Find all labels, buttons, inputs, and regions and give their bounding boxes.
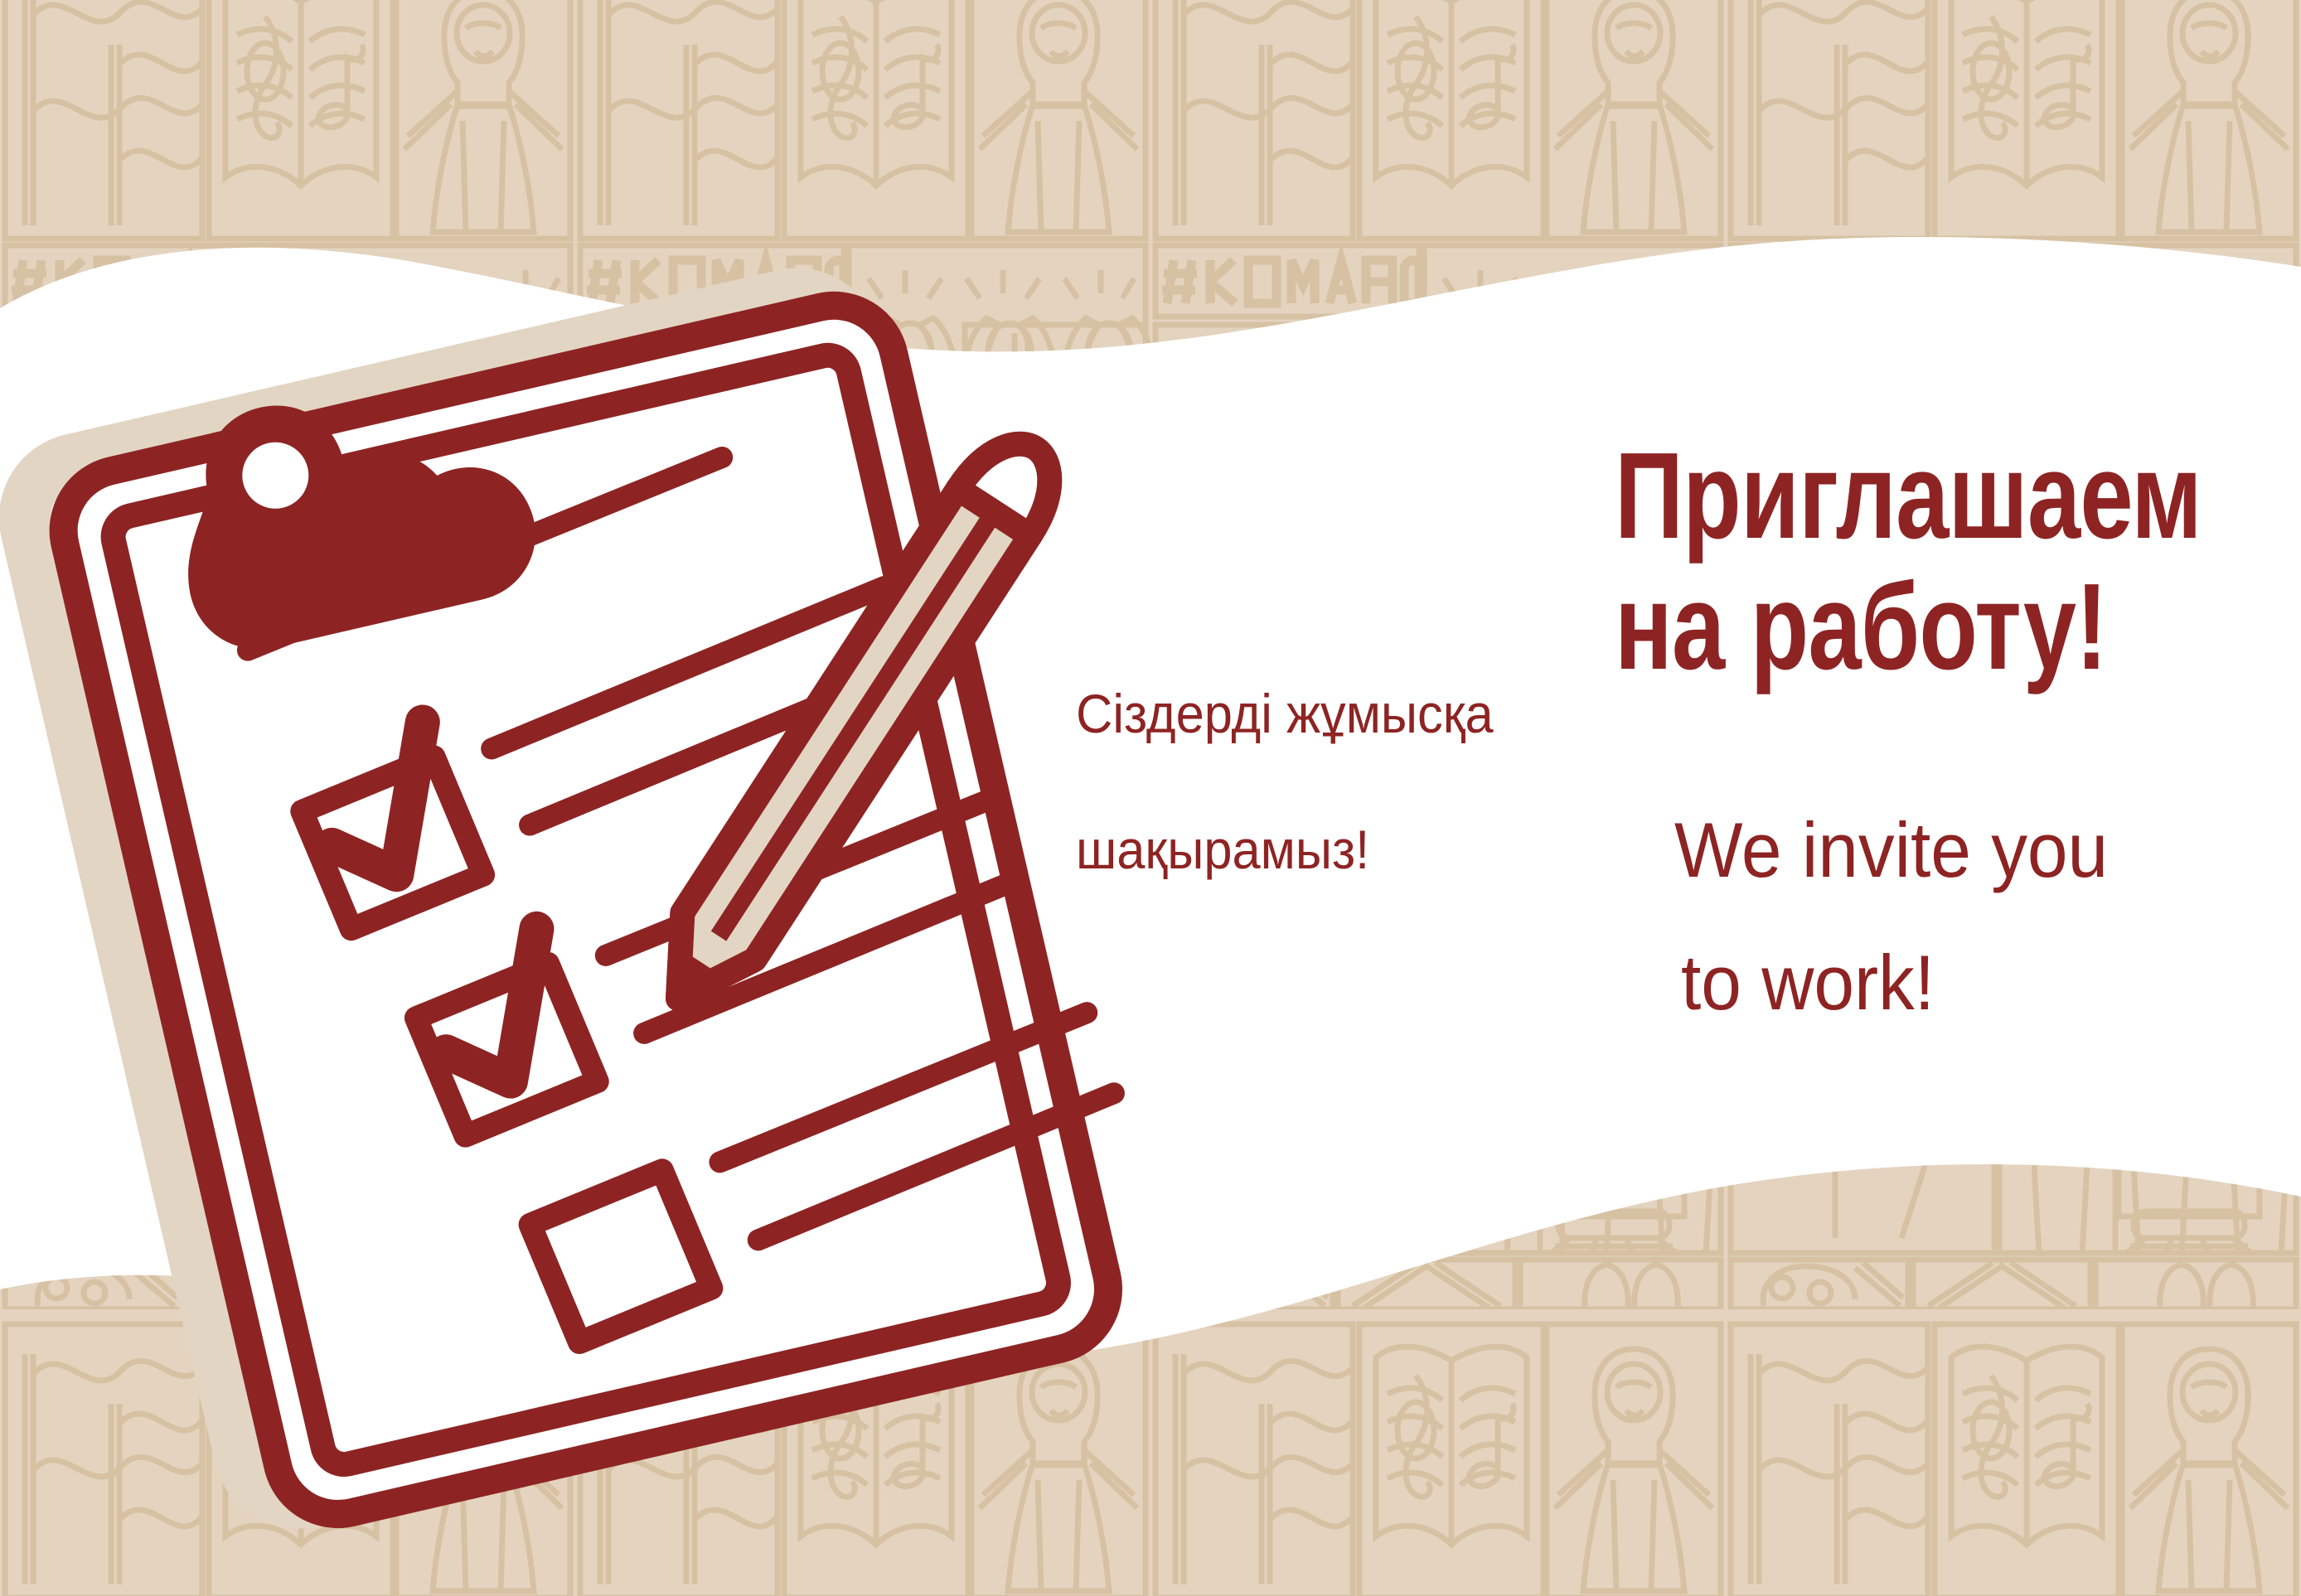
headline-english-line-2: to work!: [1681, 943, 1935, 1023]
poster-canvas: Приглашаем на работу! Сіздерді жұмысқа ш…: [0, 0, 2301, 1596]
subtitle-kazakh-line-1: Сіздерді жұмысқа: [1076, 686, 1494, 742]
headline-russian: Приглашаем на работу!: [1615, 431, 2202, 694]
subtitle-kazakh-line-2: шақырамыз!: [1076, 822, 1369, 878]
clipboard-checklist-with-pencil: [0, 0, 2301, 1596]
headline-english-line-1: We invite you: [1674, 810, 2108, 890]
